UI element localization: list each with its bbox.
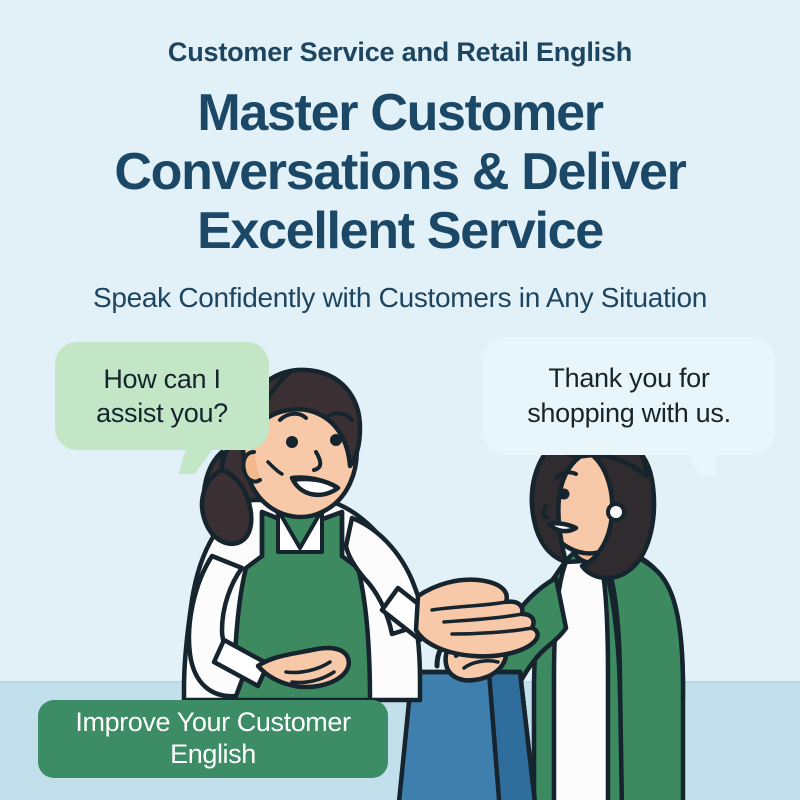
kicker-text: Customer Service and Retail English [0, 0, 800, 68]
improve-customer-english-button[interactable]: Improve Your Customer English [38, 700, 388, 778]
speech-bubble-employee-text: How can I assist you? [96, 362, 228, 430]
headline-line-2: Conversations & Deliver [0, 143, 800, 202]
header-text-block: Customer Service and Retail English Mast… [0, 0, 800, 315]
speech-bubble-employee: How can I assist you? [55, 342, 269, 450]
headline-line-1: Master Customer [0, 84, 800, 143]
headline-line-3: Excellent Service [0, 202, 800, 261]
speech-bubble-customer-text: Thank you for shopping with us. [527, 361, 731, 430]
page-title: Master Customer Conversations & Deliver … [0, 68, 800, 262]
subtitle-text: Speak Confidently with Customers in Any … [0, 261, 800, 315]
speech-bubble-customer: Thank you for shopping with us. [483, 337, 775, 455]
cta-button-label: Improve Your Customer English [75, 707, 350, 771]
poster-canvas: How can I assist you? Thank you for shop… [0, 0, 800, 800]
